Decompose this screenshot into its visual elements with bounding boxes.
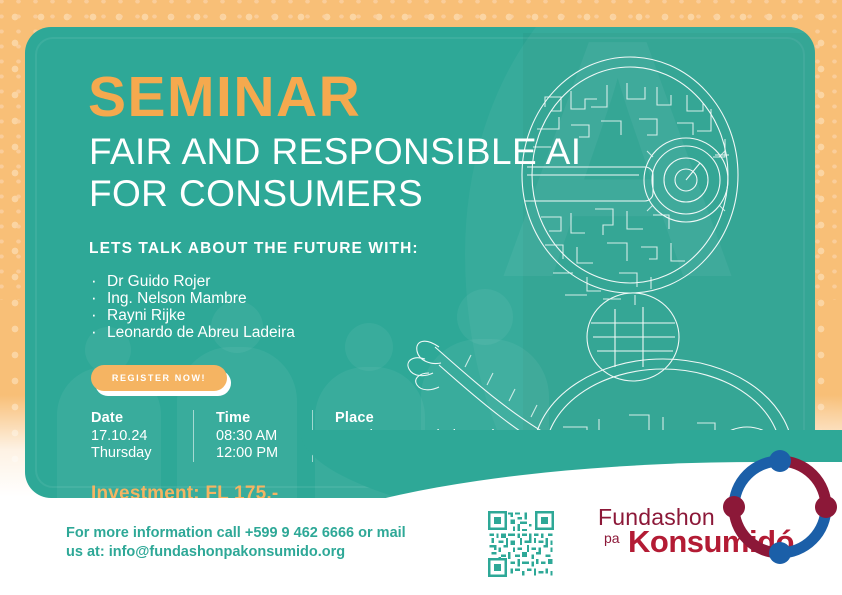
register-now-button[interactable]: REGISTER NOW!	[91, 365, 227, 391]
subtitle-line-2: FOR CONSUMERS	[89, 173, 709, 215]
seminar-poster: A	[0, 0, 842, 595]
list-item: Leonardo de Abreu Ladeira	[89, 324, 295, 341]
info-time-line1: 08:30 AM	[216, 428, 290, 445]
info-time: Time 08:30 AM 12:00 PM	[216, 410, 313, 462]
info-place-heading: Place	[335, 410, 545, 426]
teal-card: A	[25, 27, 815, 498]
list-item: Ing. Nelson Mambre	[89, 290, 295, 307]
info-date-line2: Thursday	[91, 445, 171, 462]
page-subtitle: FAIR AND RESPONSIBLE AI FOR CONSUMERS	[89, 131, 709, 215]
logo-ring-icon	[720, 447, 840, 567]
investment-text: Investment: FL 175,-	[91, 483, 278, 498]
speakers-intro-label: LETS TALK ABOUT THE FUTURE WITH:	[89, 240, 419, 258]
qr-code[interactable]	[487, 510, 555, 578]
organization-logo: Fundashon pa Konsumidó	[598, 452, 828, 572]
speakers-list: Dr Guido Rojer Ing. Nelson Mambre Rayni …	[89, 273, 295, 341]
register-button-wrap: REGISTER NOW!	[91, 365, 227, 391]
contact-line-2: us at: info@fundashonpakonsumido.org	[66, 543, 446, 562]
info-time-line2: 12:00 PM	[216, 445, 290, 462]
info-date-line1: 17.10.24	[91, 428, 171, 445]
logo-line-2-small: pa	[604, 530, 620, 546]
list-item: Rayni Rijke	[89, 307, 295, 324]
info-date: Date 17.10.24 Thursday	[91, 410, 194, 462]
info-date-heading: Date	[91, 410, 171, 426]
info-time-heading: Time	[216, 410, 290, 426]
contact-line-1: For more information call +599 9 462 666…	[66, 524, 446, 543]
page-title: SEMINAR	[88, 69, 361, 126]
list-item: Dr Guido Rojer	[89, 273, 295, 290]
contact-info: For more information call +599 9 462 666…	[66, 524, 446, 562]
subtitle-line-1: FAIR AND RESPONSIBLE AI	[89, 131, 709, 173]
silhouette-head	[345, 323, 393, 371]
